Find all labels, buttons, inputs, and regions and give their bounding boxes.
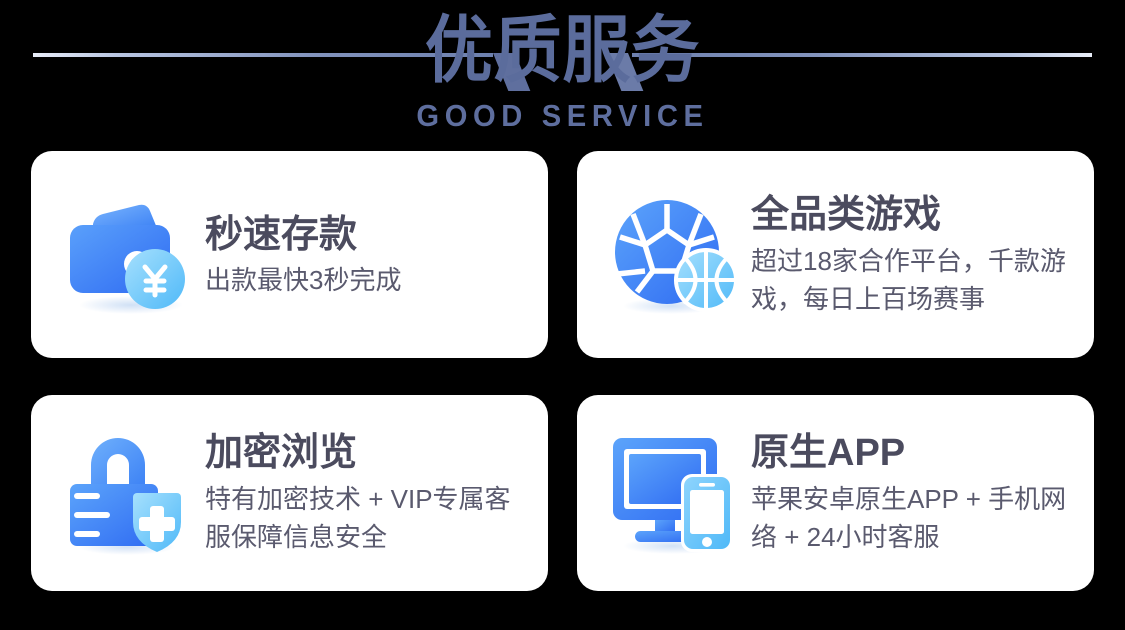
feature-card-subtitle: 超过18家合作平台，千款游戏，每日上百场赛事 bbox=[751, 242, 1076, 318]
feature-card-text: 加密浏览 特有加密技术 + VIP专属客服保障信息安全 bbox=[205, 430, 548, 556]
banner-header: 优质服务 GOOD SERVICE bbox=[0, 0, 1125, 145]
soccer-basketball-icon bbox=[599, 185, 751, 325]
feature-card-native-app[interactable]: 原生APP 苹果安卓原生APP + 手机网络 + 24小时客服 bbox=[577, 395, 1094, 591]
feature-card-grid: 秒速存款 出款最快3秒完成 bbox=[31, 151, 1094, 591]
feature-card-title: 原生APP bbox=[751, 430, 1076, 476]
feature-card-title: 全品类游戏 bbox=[751, 192, 1076, 238]
lock-shield-icon bbox=[53, 423, 205, 563]
feature-card-encryption[interactable]: 加密浏览 特有加密技术 + VIP专属客服保障信息安全 bbox=[31, 395, 548, 591]
wallet-yen-icon bbox=[53, 185, 205, 325]
feature-card-subtitle: 苹果安卓原生APP + 手机网络 + 24小时客服 bbox=[751, 480, 1076, 556]
feature-card-title: 秒速存款 bbox=[205, 212, 530, 258]
feature-card-title: 加密浏览 bbox=[205, 430, 530, 476]
monitor-phone-icon bbox=[599, 423, 751, 563]
feature-card-text: 秒速存款 出款最快3秒完成 bbox=[205, 212, 548, 298]
feature-card-deposit[interactable]: 秒速存款 出款最快3秒完成 bbox=[31, 151, 548, 358]
feature-card-text: 全品类游戏 超过18家合作平台，千款游戏，每日上百场赛事 bbox=[751, 192, 1094, 318]
feature-card-subtitle: 出款最快3秒完成 bbox=[205, 262, 530, 298]
feature-card-games[interactable]: 全品类游戏 超过18家合作平台，千款游戏，每日上百场赛事 bbox=[577, 151, 1094, 358]
page-title: 优质服务 bbox=[39, 8, 1085, 94]
feature-card-subtitle: 特有加密技术 + VIP专属客服保障信息安全 bbox=[205, 480, 530, 556]
feature-card-text: 原生APP 苹果安卓原生APP + 手机网络 + 24小时客服 bbox=[751, 430, 1094, 556]
page-subtitle: GOOD SERVICE bbox=[34, 99, 1092, 133]
good-service-banner: 优质服务 GOOD SERVICE bbox=[0, 0, 1125, 630]
